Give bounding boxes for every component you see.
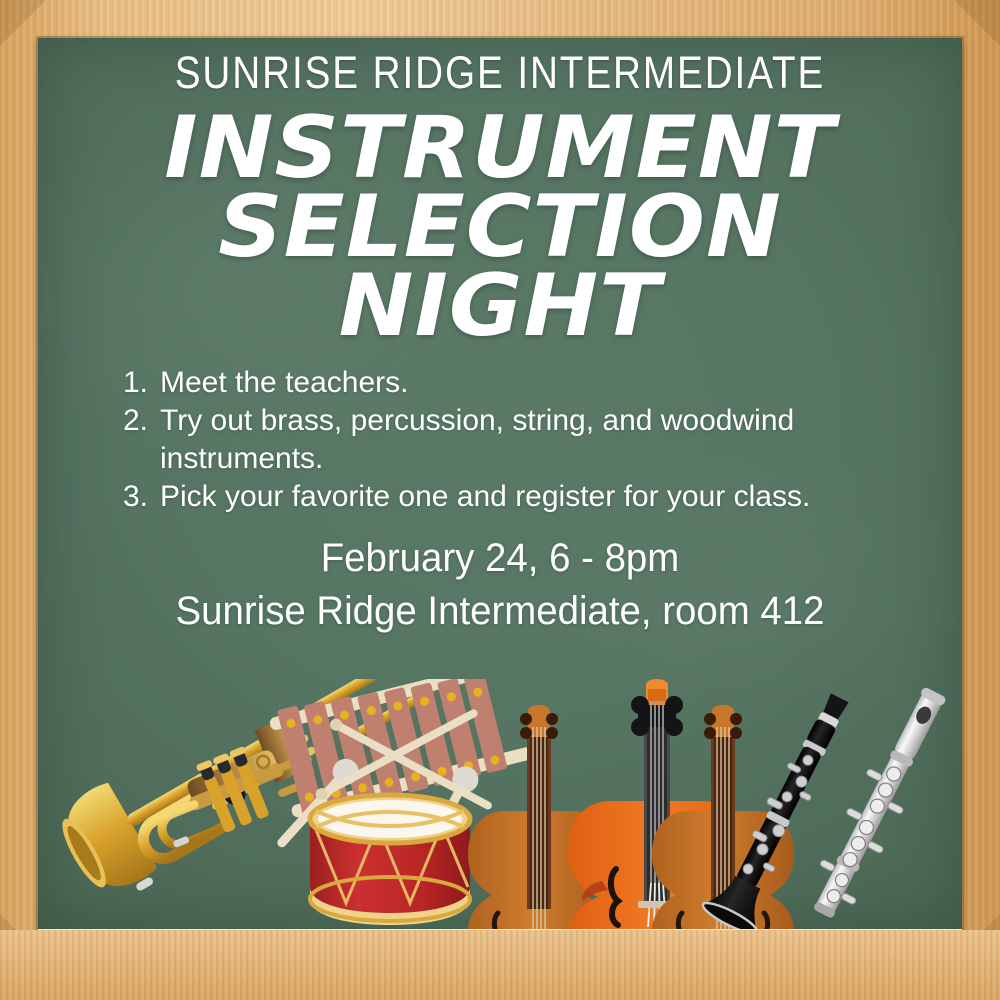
chalk-tray xyxy=(0,930,1000,1000)
list-item: 3. Pick your favorite one and register f… xyxy=(94,478,906,516)
step-text: Pick your favorite one and register for … xyxy=(160,478,906,516)
instrument-illustrations xyxy=(38,679,962,929)
step-number: 1. xyxy=(94,364,160,402)
headline-line-3: NIGHT xyxy=(0,267,1000,346)
event-date-time: February 24, 6 - 8pm xyxy=(20,532,980,586)
step-text: Try out brass, percussion, string, and w… xyxy=(160,402,906,478)
poster-content: SUNRISE RIDGE INTERMEDIATE INSTRUMENT SE… xyxy=(0,0,1000,639)
event-location: Sunrise Ridge Intermediate, room 412 xyxy=(20,585,980,639)
step-text: Meet the teachers. xyxy=(160,364,906,402)
list-item: 2. Try out brass, percussion, string, an… xyxy=(94,402,906,478)
step-number: 2. xyxy=(94,402,160,440)
steps-list: 1. Meet the teachers. 2. Try out brass, … xyxy=(94,364,906,515)
school-name: SUNRISE RIDGE INTERMEDIATE xyxy=(70,50,930,95)
event-details: February 24, 6 - 8pm Sunrise Ridge Inter… xyxy=(0,532,1000,639)
headline: INSTRUMENT SELECTION NIGHT xyxy=(0,109,1000,346)
step-number: 3. xyxy=(94,478,160,516)
list-item: 1. Meet the teachers. xyxy=(94,364,906,402)
poster: SUNRISE RIDGE INTERMEDIATE INSTRUMENT SE… xyxy=(0,0,1000,1000)
